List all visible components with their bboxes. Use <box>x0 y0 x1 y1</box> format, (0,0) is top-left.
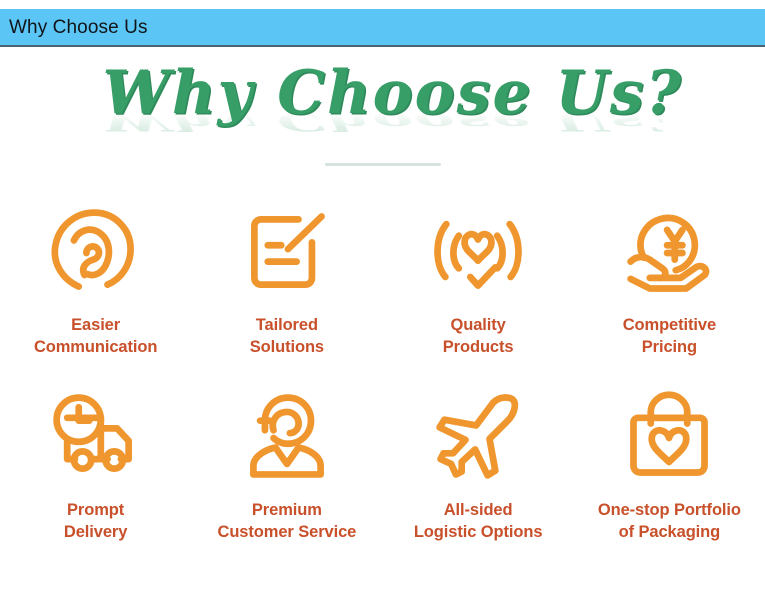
hand-coin-yen-icon <box>614 196 724 308</box>
feature-item-quality-products[interactable]: Quality Products <box>383 196 574 359</box>
feature-label: Tailored Solutions <box>250 314 324 359</box>
hero-banner: Why Choose Us? Why Choose Us? <box>0 58 765 163</box>
feature-label: All-sided Logistic Options <box>414 499 543 544</box>
feature-label: Premium Customer Service <box>218 499 357 544</box>
headset-agent-icon <box>232 381 342 493</box>
why-choose-us-page: Why Choose Us Why Choose Us? Why Choose … <box>0 0 765 599</box>
feature-item-tailored-solutions[interactable]: Tailored Solutions <box>191 196 382 359</box>
delivery-truck-clock-icon <box>41 381 151 493</box>
heart-signal-check-icon <box>423 196 533 308</box>
feature-item-easier-communication[interactable]: Easier Communication <box>0 196 191 359</box>
feature-item-prompt-delivery[interactable]: Prompt Delivery <box>0 381 191 544</box>
feature-item-competitive-pricing[interactable]: Competitive Pricing <box>574 196 765 359</box>
feature-grid: Easier Communication Tailored Solutions <box>0 196 765 543</box>
title-divider <box>325 163 441 166</box>
airplane-icon <box>423 381 533 493</box>
feature-label: Quality Products <box>443 314 514 359</box>
page-title: Why Choose Us <box>0 18 148 37</box>
hero-title-wrap: Why Choose Us? Why Choose Us? <box>103 58 663 163</box>
feature-item-one-stop-portfolio-of-packaging[interactable]: One-stop Portfolio of Packaging <box>574 381 765 544</box>
feature-label: Prompt Delivery <box>64 499 127 544</box>
feature-label: Easier Communication <box>34 314 157 359</box>
hero-title-reflection: Why Choose Us? <box>103 109 663 134</box>
document-pencil-icon <box>232 196 342 308</box>
window-header-bar: Why Choose Us <box>0 9 765 47</box>
shopping-bag-heart-icon <box>614 381 724 493</box>
feature-item-all-sided-logistic-options[interactable]: All-sided Logistic Options <box>383 381 574 544</box>
feature-label: One-stop Portfolio of Packaging <box>598 499 741 544</box>
ear-listening-icon <box>41 196 151 308</box>
feature-item-premium-customer-service[interactable]: Premium Customer Service <box>191 381 382 544</box>
feature-label: Competitive Pricing <box>623 314 716 359</box>
